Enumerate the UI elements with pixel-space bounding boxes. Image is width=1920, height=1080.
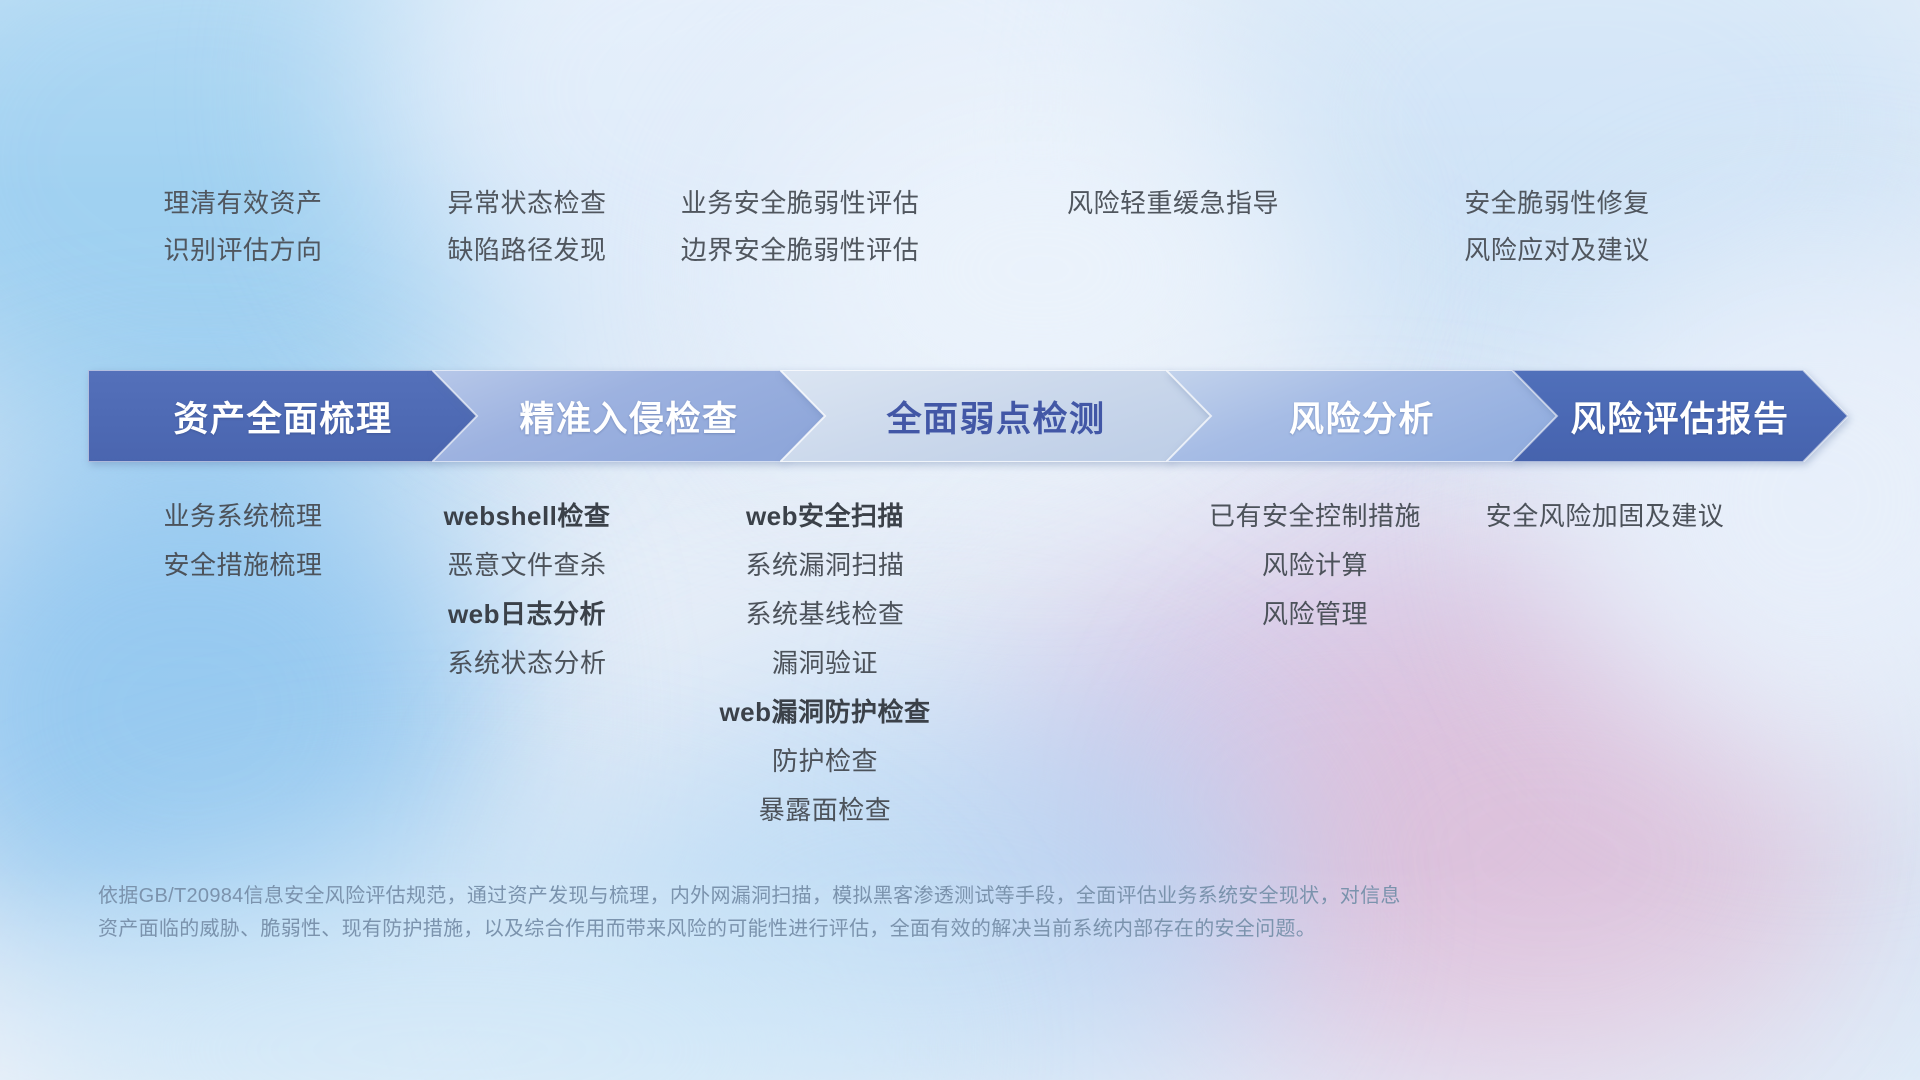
- detail-item: 暴露面检查: [620, 786, 1030, 835]
- detail-item: web安全扫描: [620, 492, 1030, 541]
- chevron-stage-3[interactable]: 全面弱点检测: [780, 370, 1212, 462]
- top-caption: 安全脆弱性修复: [1352, 180, 1762, 227]
- detail-item: web漏洞防护检查: [620, 688, 1030, 737]
- bottom-items-stage-3: web安全扫描 系统漏洞扫描 系统基线检查 漏洞验证 web漏洞防护检查 防护检…: [620, 492, 1030, 835]
- top-caption: 业务安全脆弱性评估: [565, 180, 1035, 227]
- process-flow-diagram: 理清有效资产 识别评估方向 异常状态检查 缺陷路径发现 业务安全脆弱性评估 边界…: [0, 0, 1920, 1080]
- bottom-items-stage-5: 安全风险加固及建议: [1360, 492, 1850, 541]
- chevron-stage-4[interactable]: 风险分析: [1166, 370, 1558, 462]
- chevron-5-label: 风险评估报告: [1570, 391, 1789, 442]
- top-caption: 风险轻重缓急指导: [968, 180, 1378, 227]
- detail-item: 风险管理: [1110, 590, 1520, 639]
- footer-description: 依据GB/T20984信息安全风险评估规范，通过资产发现与梳理，内外网漏洞扫描，…: [98, 880, 1618, 946]
- detail-item: 漏洞验证: [620, 639, 1030, 688]
- chevron-3-label: 全面弱点检测: [886, 391, 1105, 442]
- chevron-stage-1[interactable]: 资产全面梳理: [88, 370, 478, 462]
- top-captions-stage-4: 风险轻重缓急指导: [968, 180, 1378, 227]
- footer-line-1: 依据GB/T20984信息安全风险评估规范，通过资产发现与梳理，内外网漏洞扫描，…: [98, 880, 1618, 913]
- chevron-stage-2[interactable]: 精准入侵检查: [432, 370, 826, 462]
- chevron-2-label: 精准入侵检查: [519, 391, 738, 442]
- detail-item: 风险计算: [1110, 541, 1520, 590]
- top-caption: 风险应对及建议: [1352, 227, 1762, 274]
- detail-item: 系统基线检查: [620, 590, 1030, 639]
- stage-chevron-band: 资产全面梳理 精准入侵检查: [88, 370, 1848, 462]
- top-caption: 边界安全脆弱性评估: [565, 227, 1035, 274]
- detail-item: 系统漏洞扫描: [620, 541, 1030, 590]
- chevron-1-label: 资产全面梳理: [173, 391, 392, 442]
- top-captions-stage-5: 安全脆弱性修复 风险应对及建议: [1352, 180, 1762, 274]
- footer-line-2: 资产面临的威胁、脆弱性、现有防护措施，以及综合作用而带来风险的可能性进行评估，全…: [98, 913, 1618, 946]
- chevron-stage-5[interactable]: 风险评估报告: [1512, 370, 1848, 462]
- detail-item: 防护检查: [620, 737, 1030, 786]
- top-captions-stage-3: 业务安全脆弱性评估 边界安全脆弱性评估: [565, 180, 1035, 274]
- top-caption-row: 理清有效资产 识别评估方向 异常状态检查 缺陷路径发现 业务安全脆弱性评估 边界…: [0, 180, 1920, 290]
- detail-item: 安全风险加固及建议: [1360, 492, 1850, 541]
- chevron-4-label: 风险分析: [1289, 391, 1435, 442]
